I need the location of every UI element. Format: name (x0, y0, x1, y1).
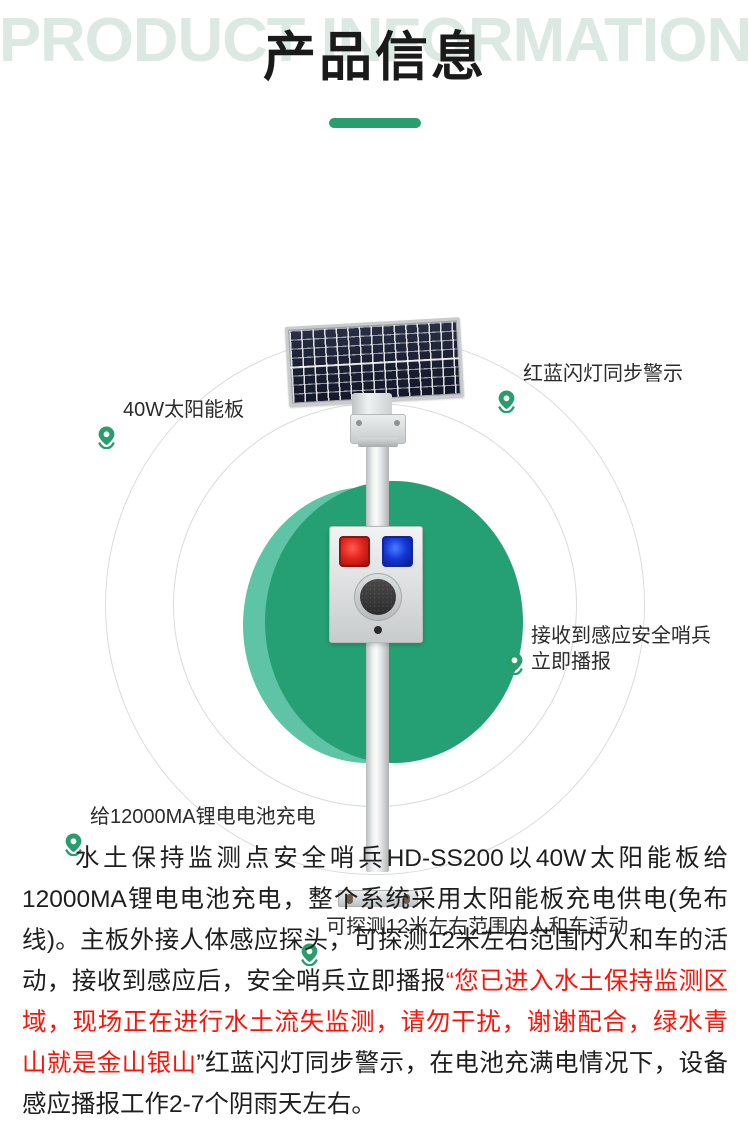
speaker-horn (354, 573, 402, 621)
location-pin-icon (64, 807, 83, 830)
callout-label: 红蓝闪灯同步警示 (523, 362, 683, 388)
quote-close-mark: ” (196, 1050, 204, 1077)
quote-open-mark: “ (446, 968, 454, 995)
product-hero: 40W太阳能板 红蓝闪灯同步警示 接收到感应安全哨兵 立即播报 (0, 150, 750, 820)
pole-clamp (358, 438, 398, 447)
callout-label: 给12000MA锂电电池充电 (90, 805, 316, 831)
callout-flash-light: 红蓝闪灯同步警示 (497, 362, 683, 388)
page-header: PRODUCT INFORMATION 产品信息 (0, 0, 750, 150)
callout-solar-panel: 40W太阳能板 (97, 398, 244, 424)
speaker-grille (360, 579, 396, 615)
product-description: 水土保持监测点安全哨兵HD-SS200以40W太阳能板给12000MA锂电电池充… (22, 838, 728, 1125)
control-box (329, 526, 423, 643)
location-pin-icon (97, 400, 116, 423)
blue-warning-lamp (382, 536, 413, 567)
red-warning-lamp (339, 536, 370, 567)
callout-label: 接收到感应安全哨兵 立即播报 (531, 624, 711, 675)
product-device-image (0, 150, 750, 820)
mounting-pole (366, 422, 389, 872)
callout-broadcast: 接收到感应安全哨兵 立即播报 (505, 624, 711, 675)
motion-sensor-dot (374, 626, 382, 634)
callout-battery: 给12000MA锂电电池充电 (64, 805, 316, 831)
page-title: 产品信息 (0, 28, 750, 89)
location-pin-icon (497, 364, 516, 387)
callout-label: 40W太阳能板 (123, 398, 244, 424)
location-pin-icon (505, 626, 524, 649)
title-underline-bar (329, 118, 421, 128)
